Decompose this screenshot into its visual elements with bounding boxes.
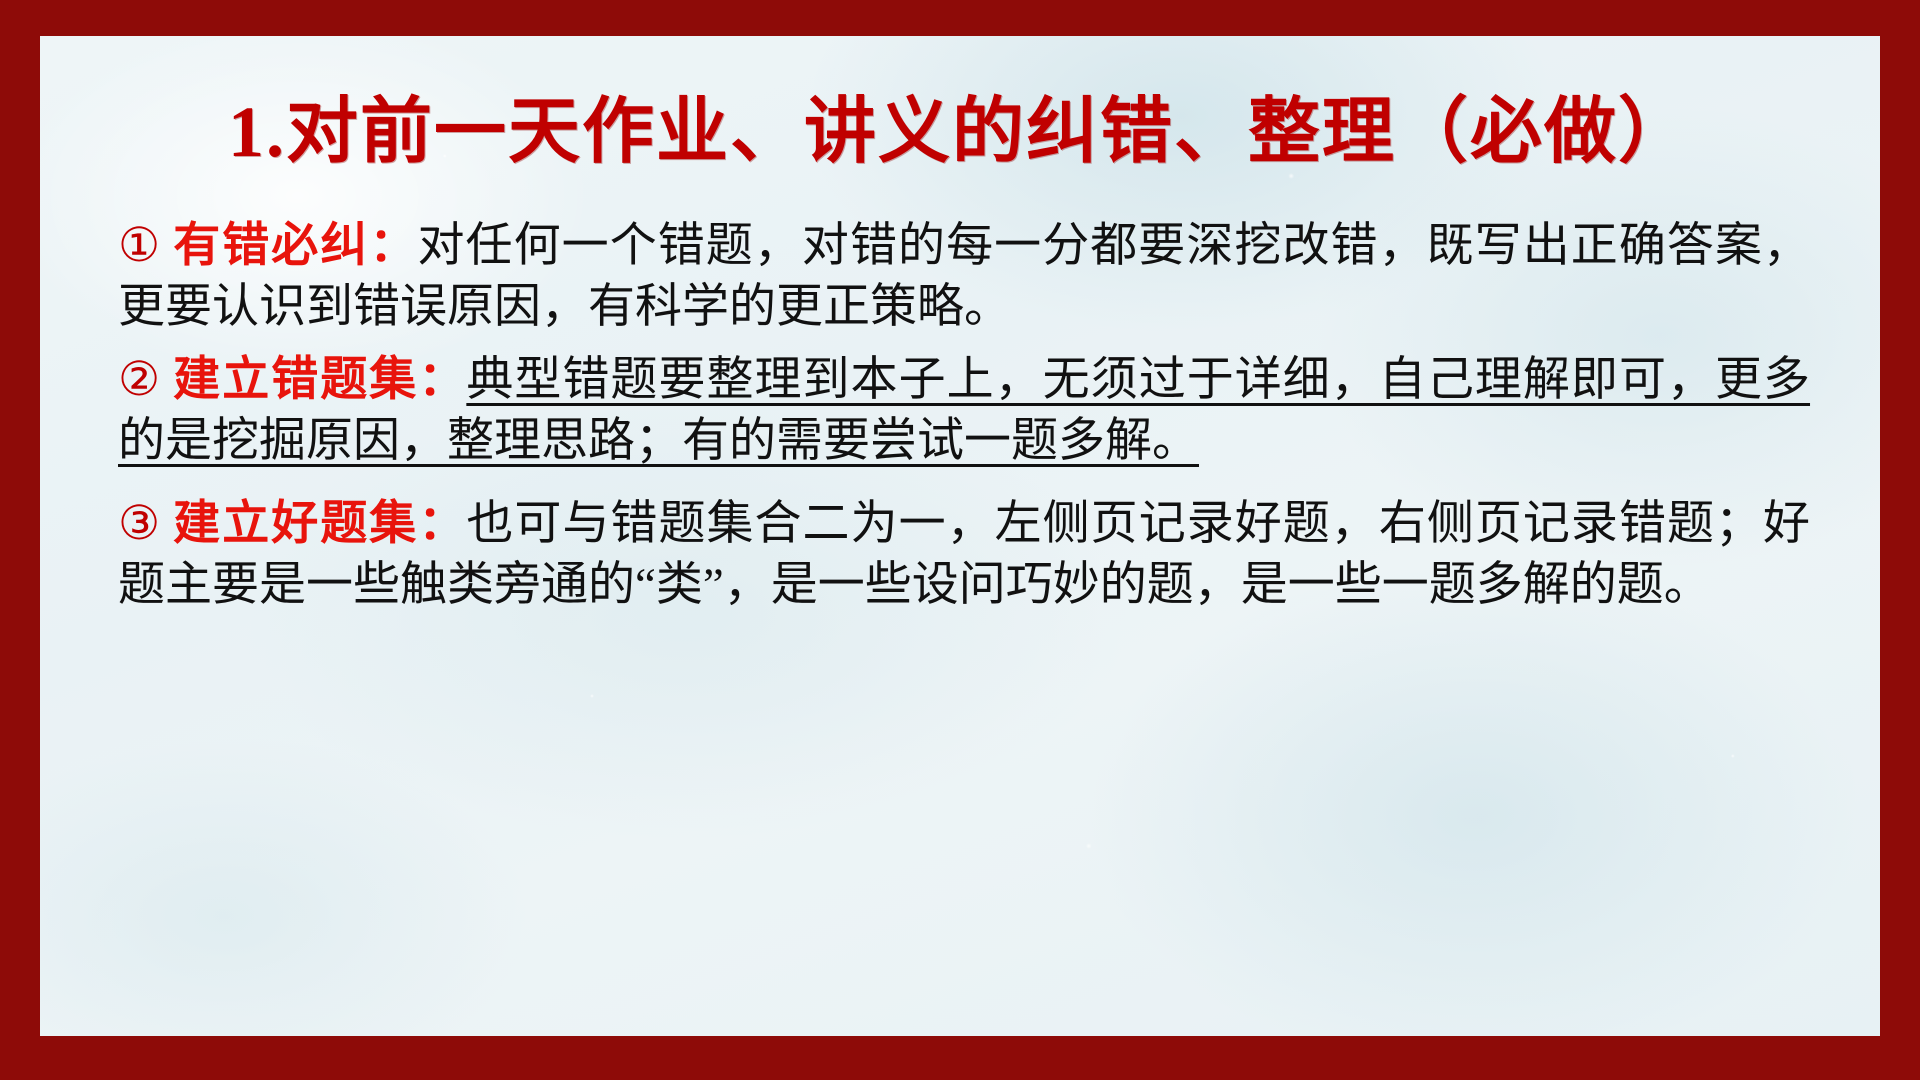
- item-label-1: 有错必纠: [173, 220, 369, 272]
- item-marker-1: ①: [118, 220, 161, 272]
- item-marker-3: ③: [118, 498, 161, 550]
- list-item-1: ①有错必纠：对任何一个错题，对错的每一分都要深挖改错，既写出正确答案，更要认识到…: [118, 216, 1810, 338]
- item-label-3: 建立好题集: [173, 498, 418, 550]
- list-item-2: ②建立错题集：典型错题要整理到本子上，无须过于详细，自己理解即可，更多的是挖掘原…: [118, 350, 1810, 472]
- page-title: 1.对前一天作业、讲义的纠错、整理（必做）: [40, 36, 1880, 172]
- numbered-item-list: ①有错必纠：对任何一个错题，对错的每一分都要深挖改错，既写出正确答案，更要认识到…: [40, 172, 1880, 617]
- item-marker-2: ②: [118, 354, 161, 406]
- item-colon-1: ：: [369, 220, 417, 272]
- slide-page-surface: 1.对前一天作业、讲义的纠错、整理（必做） ①有错必纠：对任何一个错题，对错的每…: [40, 36, 1880, 1036]
- item-colon-2: ：: [418, 354, 466, 406]
- item-colon-3: ：: [418, 498, 466, 550]
- item-label-2: 建立错题集: [173, 354, 418, 406]
- list-item-3: ③建立好题集：也可与错题集合二为一，左侧页记录好题，右侧页记录错题；好题主要是一…: [118, 494, 1810, 616]
- slide-root: 1.对前一天作业、讲义的纠错、整理（必做） ①有错必纠：对任何一个错题，对错的每…: [0, 0, 1920, 1080]
- slide-content: 1.对前一天作业、讲义的纠错、整理（必做） ①有错必纠：对任何一个错题，对错的每…: [40, 36, 1880, 616]
